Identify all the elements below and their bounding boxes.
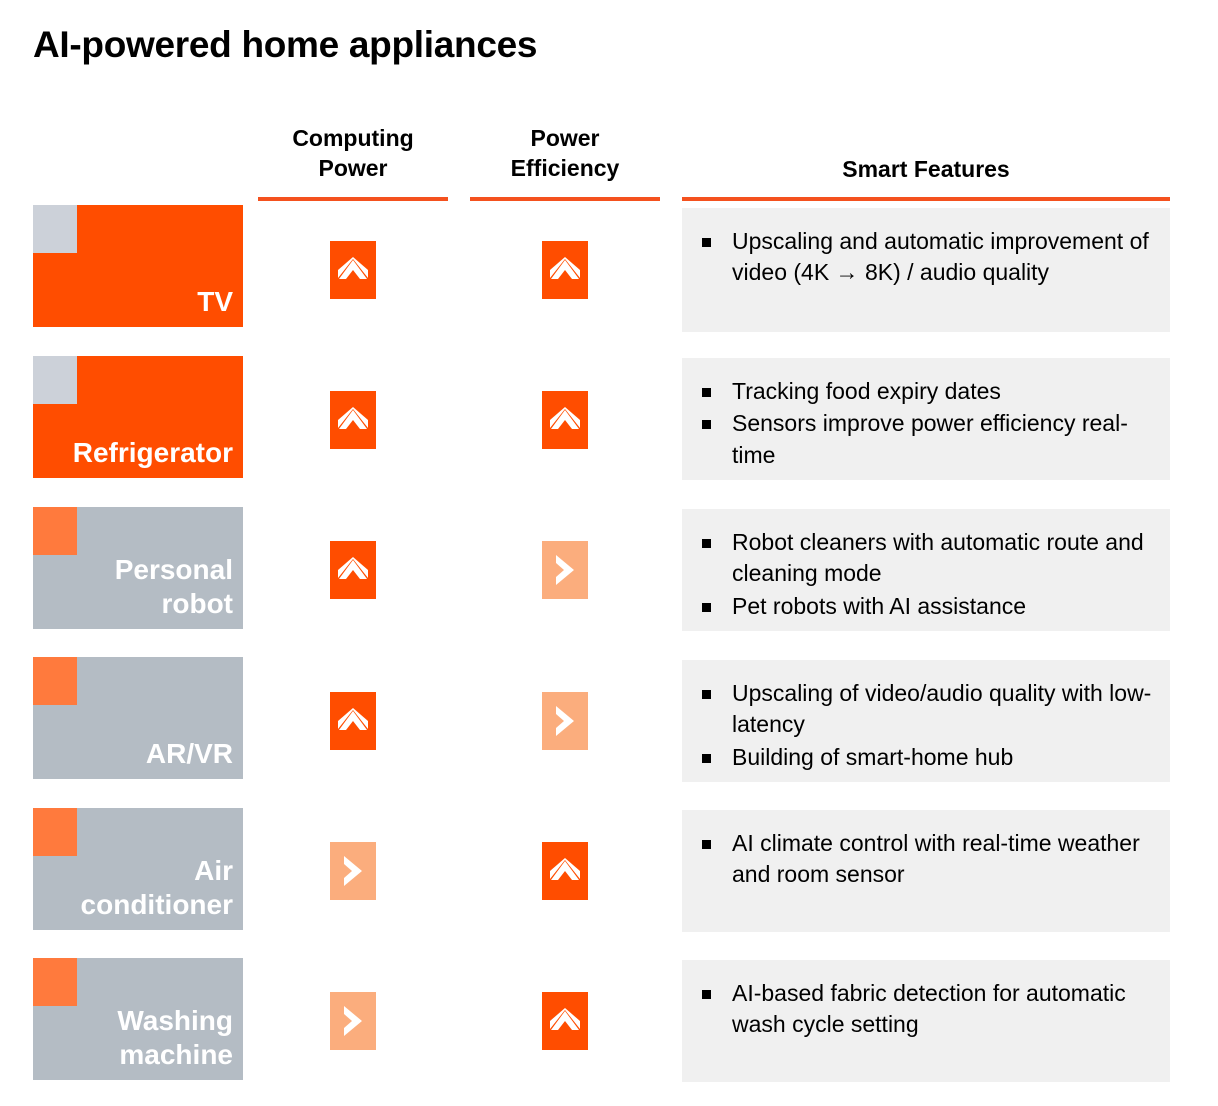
rating-badge-computing-power[interactable] (330, 391, 376, 449)
right-arrow-icon (340, 854, 366, 888)
rating-badge-computing-power[interactable] (330, 992, 376, 1050)
feature-text: Upscaling and automatic improvement of v… (732, 228, 1149, 285)
bullet-square-icon (702, 603, 711, 612)
bullet-square-icon (702, 754, 711, 763)
tile-corner-accent (33, 657, 77, 705)
list-item: Pet robots with AI assistance (696, 591, 1156, 622)
feature-list: Robot cleaners with automatic route and … (696, 527, 1156, 622)
feature-list: Tracking food expiry datesSensors improv… (696, 376, 1156, 471)
column-header-smart-features: Smart Features (682, 155, 1170, 185)
appliance-label: Refrigerator (65, 436, 243, 478)
appliance-label: Personal robot (107, 553, 243, 629)
bullet-square-icon (702, 690, 711, 699)
feature-list: Upscaling and automatic improvement of v… (696, 226, 1156, 289)
up-arrow-icon (336, 708, 370, 734)
smart-features-cell: AI climate control with real-time weathe… (682, 810, 1170, 932)
feature-text: Robot cleaners with automatic route and … (732, 529, 1144, 586)
feature-text: AI-based fabric detection for automatic … (732, 980, 1126, 1037)
rating-badge-power-efficiency[interactable] (542, 842, 588, 900)
rating-badge-power-efficiency[interactable] (542, 241, 588, 299)
list-item: AI climate control with real-time weathe… (696, 828, 1156, 891)
tile-corner-accent (33, 507, 77, 555)
list-item: Upscaling and automatic improvement of v… (696, 226, 1156, 289)
tile-corner-accent (33, 808, 77, 856)
smart-features-cell: Robot cleaners with automatic route and … (682, 509, 1170, 631)
appliance-label: Washing machine (109, 1004, 243, 1080)
appliance-tile[interactable]: Refrigerator (33, 356, 243, 478)
right-arrow-icon (340, 1004, 366, 1038)
rating-badge-power-efficiency[interactable] (542, 692, 588, 750)
list-item: Tracking food expiry dates (696, 376, 1156, 407)
rating-badge-power-efficiency[interactable] (542, 541, 588, 599)
appliance-tile[interactable]: Washing machine (33, 958, 243, 1080)
list-item: Building of smart-home hub (696, 742, 1156, 773)
page-title: AI-powered home appliances (33, 24, 537, 66)
feature-list: Upscaling of video/audio quality with lo… (696, 678, 1156, 773)
bullet-square-icon (702, 238, 711, 247)
appliance-tile[interactable]: Air conditioner (33, 808, 243, 930)
smart-features-cell: Upscaling of video/audio quality with lo… (682, 660, 1170, 782)
rating-badge-power-efficiency[interactable] (542, 391, 588, 449)
rating-badge-computing-power[interactable] (330, 842, 376, 900)
appliance-tile[interactable]: AR/VR (33, 657, 243, 779)
bullet-square-icon (702, 539, 711, 548)
list-item: Sensors improve power efficiency real-ti… (696, 408, 1156, 471)
list-item: Robot cleaners with automatic route and … (696, 527, 1156, 590)
up-arrow-icon (548, 858, 582, 884)
bullet-square-icon (702, 388, 711, 397)
feature-text: Pet robots with AI assistance (732, 593, 1026, 619)
feature-text: AI climate control with real-time weathe… (732, 830, 1140, 887)
rating-badge-computing-power[interactable] (330, 241, 376, 299)
smart-features-cell: Tracking food expiry datesSensors improv… (682, 358, 1170, 480)
tile-corner-accent (33, 205, 77, 253)
feature-text: Sensors improve power efficiency real-ti… (732, 410, 1128, 467)
up-arrow-icon (336, 557, 370, 583)
column-header-power-efficiency: Power Efficiency (470, 124, 660, 184)
appliance-label: Air conditioner (73, 854, 243, 930)
column-header-computing-power: Computing Power (258, 124, 448, 184)
header-rule-computing-power (258, 197, 448, 201)
up-arrow-icon (336, 407, 370, 433)
header-rule-power-efficiency (470, 197, 660, 201)
smart-features-cell: Upscaling and automatic improvement of v… (682, 208, 1170, 332)
bullet-square-icon (702, 840, 711, 849)
up-arrow-icon (548, 407, 582, 433)
bullet-square-icon (702, 990, 711, 999)
up-arrow-icon (548, 1008, 582, 1034)
right-arrow-icon (552, 704, 578, 738)
right-arrow-icon (552, 553, 578, 587)
tile-corner-accent (33, 356, 77, 404)
appliance-label: AR/VR (138, 737, 243, 779)
rating-badge-power-efficiency[interactable] (542, 992, 588, 1050)
smart-features-cell: AI-based fabric detection for automatic … (682, 960, 1170, 1082)
list-item: Upscaling of video/audio quality with lo… (696, 678, 1156, 741)
feature-text: Building of smart-home hub (732, 744, 1013, 770)
appliance-label: TV (189, 285, 243, 327)
up-arrow-icon (336, 257, 370, 283)
rating-badge-computing-power[interactable] (330, 692, 376, 750)
rating-badge-computing-power[interactable] (330, 541, 376, 599)
header-rule-smart-features (682, 197, 1170, 201)
appliance-tile[interactable]: Personal robot (33, 507, 243, 629)
feature-text: Upscaling of video/audio quality with lo… (732, 680, 1151, 737)
feature-list: AI climate control with real-time weathe… (696, 828, 1156, 891)
bullet-square-icon (702, 420, 711, 429)
feature-text: Tracking food expiry dates (732, 378, 1001, 404)
appliance-tile[interactable]: TV (33, 205, 243, 327)
list-item: AI-based fabric detection for automatic … (696, 978, 1156, 1041)
up-arrow-icon (548, 257, 582, 283)
tile-corner-accent (33, 958, 77, 1006)
feature-list: AI-based fabric detection for automatic … (696, 978, 1156, 1041)
